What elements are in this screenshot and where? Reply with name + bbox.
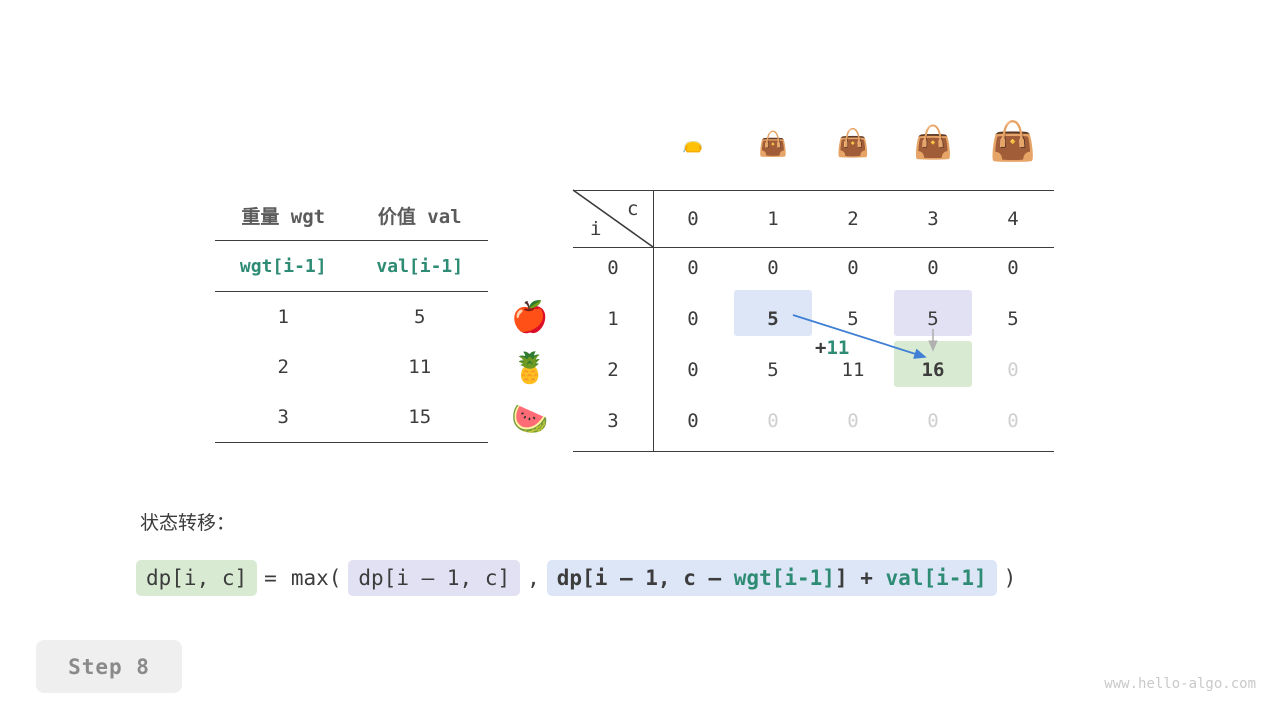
dp-cell-2-0: 0 <box>653 345 733 395</box>
formula-term2-val: val[i-1] <box>886 566 987 590</box>
dp-cell-0-2: 0 <box>813 243 893 293</box>
cell-val-3: 15 <box>352 392 489 443</box>
pineapple-icon: 🍍 <box>508 354 552 384</box>
dp-cell-3-1: 0 <box>733 396 813 446</box>
formula-term2-b: ] + <box>835 566 886 590</box>
dp-table: c i 0 1 2 3 4 0 1 2 3 0 0 0 0 0 0 5 5 5 … <box>573 190 1054 452</box>
dp-cell-3-4: 0 <box>973 396 1053 446</box>
dp-cell-1-3: 5 <box>893 294 973 344</box>
header-value: 价值 val <box>352 190 489 241</box>
cell-val-2: 11 <box>352 342 489 392</box>
bag-icon-1: 👜 <box>733 132 813 156</box>
dp-cell-0-3: 0 <box>893 243 973 293</box>
header-weight: 重量 wgt <box>215 190 352 241</box>
row-header-2: 2 <box>573 345 653 395</box>
table-row: 2 11 <box>215 342 488 392</box>
row-header-1: 1 <box>573 294 653 344</box>
formula-term2-wgt: wgt[i-1] <box>734 566 835 590</box>
formula-equals: = <box>257 566 284 590</box>
bag-icon-4: 👜 <box>973 122 1053 160</box>
table-subheader-row: wgt[i-1] val[i-1] <box>215 241 488 292</box>
formula-target: dp[i, c] <box>136 560 257 596</box>
formula-term1: dp[i – 1, c] <box>348 560 520 596</box>
cell-wgt-1: 1 <box>215 292 352 343</box>
dp-cell-3-2: 0 <box>813 396 893 446</box>
cell-wgt-2: 2 <box>215 342 352 392</box>
dp-cell-3-3: 0 <box>893 396 973 446</box>
rule-bottom <box>573 451 1054 452</box>
bag-icon-3: 👜 <box>893 126 973 158</box>
annotation-plus-value: +11 <box>815 337 849 359</box>
state-transfer-formula: dp[i, c] = max( dp[i – 1, c] , dp[i – 1,… <box>136 560 1023 596</box>
annotation-value: 11 <box>826 337 849 359</box>
col-header-1: 1 <box>733 194 813 244</box>
weight-value-table: 重量 wgt 价值 val wgt[i-1] val[i-1] 1 5 2 11… <box>215 190 488 443</box>
formula-term2: dp[i – 1, c – wgt[i-1]] + val[i-1] <box>547 560 997 596</box>
row-axis-label: i <box>590 218 601 240</box>
dp-cell-0-4: 0 <box>973 243 1053 293</box>
table-header-row: 重量 wgt 价值 val <box>215 190 488 241</box>
row-header-3: 3 <box>573 396 653 446</box>
col-header-2: 2 <box>813 194 893 244</box>
col-axis-label: c <box>627 198 638 220</box>
table-row: 3 15 <box>215 392 488 443</box>
dp-cell-1-1: 5 <box>733 294 813 344</box>
formula-close: ) <box>997 566 1024 590</box>
row-header-0: 0 <box>573 243 653 293</box>
table-row: 1 5 <box>215 292 488 343</box>
dp-cell-0-0: 0 <box>653 243 733 293</box>
step-badge: Step 8 <box>36 640 182 693</box>
dp-cell-1-4: 5 <box>973 294 1053 344</box>
formula-comma: , <box>520 566 547 590</box>
bag-icon-2: 👜 <box>813 130 893 157</box>
cell-wgt-3: 3 <box>215 392 352 443</box>
state-transfer-label: 状态转移： <box>140 508 235 535</box>
apple-icon: 🍎 <box>508 303 552 333</box>
subheader-val: val[i-1] <box>352 241 489 292</box>
rule-top <box>573 190 1054 191</box>
bag-icon-0: 👝 <box>653 136 733 153</box>
col-header-3: 3 <box>893 194 973 244</box>
dp-cell-2-3: 16 <box>893 345 973 395</box>
annotation-prefix: + <box>815 337 826 359</box>
dp-cell-1-0: 0 <box>653 294 733 344</box>
subheader-wgt: wgt[i-1] <box>215 241 352 292</box>
watermark: www.hello-algo.com <box>1104 676 1256 692</box>
col-header-4: 4 <box>973 194 1053 244</box>
cell-val-1: 5 <box>352 292 489 343</box>
formula-max: max( <box>284 566 349 590</box>
dp-cell-2-4: 0 <box>973 345 1053 395</box>
dp-cell-3-0: 0 <box>653 396 733 446</box>
col-header-0: 0 <box>653 194 733 244</box>
formula-term2-a: dp[i – 1, c – <box>557 566 734 590</box>
dp-cell-0-1: 0 <box>733 243 813 293</box>
watermelon-icon: 🍉 <box>508 405 552 435</box>
dp-cell-2-1: 5 <box>733 345 813 395</box>
